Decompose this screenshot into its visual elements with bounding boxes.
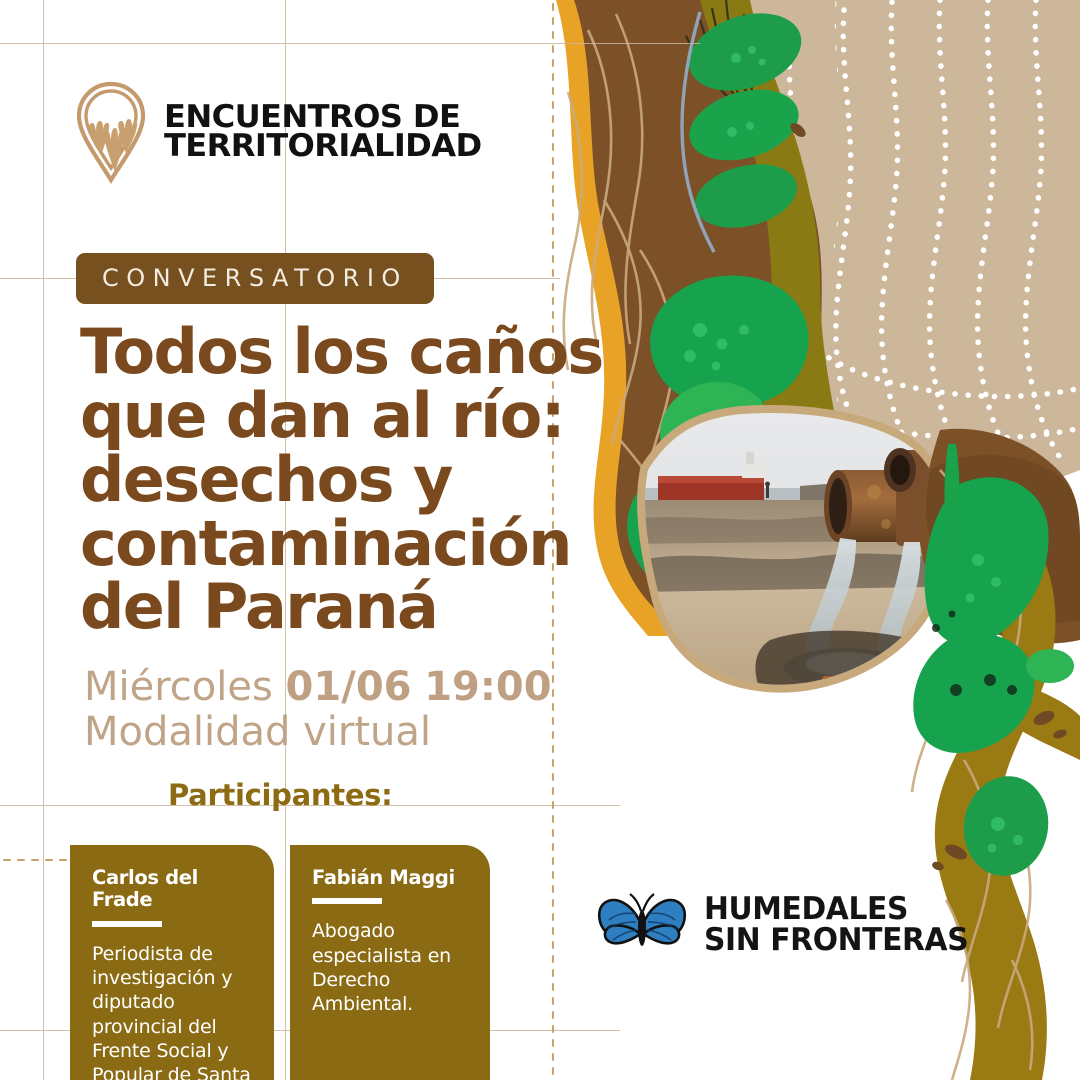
title-line-2: que dan al río:	[80, 384, 600, 448]
event-time: 19:00	[424, 664, 551, 710]
participant-name: Fabián Maggi	[312, 867, 474, 889]
participant-name: Carlos del Frade	[92, 867, 258, 912]
event-details: Miércoles 01/06 19:00 Modalidad virtual	[84, 665, 552, 755]
participant-bio: Periodista de investigación y diputado p…	[92, 942, 258, 1080]
title-line-5: del Paraná	[80, 575, 600, 639]
participant-card: Carlos del Frade Periodista de investiga…	[70, 845, 274, 1080]
page-title: Todos los caños que dan al río: desechos…	[80, 320, 600, 639]
participants-heading: Participantes:	[168, 778, 392, 812]
event-datetime: Miércoles 01/06 19:00	[84, 665, 552, 710]
participant-card: Fabián Maggi Abogado especialista en Der…	[290, 845, 490, 1080]
title-line-4: contaminación	[80, 512, 600, 576]
participant-rule	[312, 898, 382, 904]
event-day: Miércoles	[84, 664, 273, 710]
conversatorio-badge: CONVERSATORIO	[76, 253, 434, 304]
participant-bio: Abogado especialista en Derecho Ambienta…	[312, 919, 474, 1016]
event-date: 01/06	[286, 664, 412, 710]
organizer-wordmark: HUMEDALES SIN FRONTERAS	[704, 894, 979, 956]
title-line-3: desechos y	[80, 448, 600, 512]
participants-list: Carlos del Frade Periodista de investiga…	[70, 845, 490, 1080]
brand-line-2: TERRITORIALIDAD	[164, 132, 482, 161]
organizer-line-1: HUMEDALES	[704, 894, 968, 925]
organizer-logo: HUMEDALES SIN FRONTERAS	[596, 892, 979, 958]
title-line-1: Todos los caños	[80, 320, 600, 384]
poster: ENCUENTROS DE TERRITORIALIDAD CONVERSATO…	[0, 0, 1080, 1080]
blue-morpho-butterfly-icon	[596, 892, 688, 958]
map-pin-with-hands-icon	[72, 78, 150, 186]
event-modality: Modalidad virtual	[84, 710, 552, 755]
participant-rule	[92, 921, 162, 927]
brand-logo: ENCUENTROS DE TERRITORIALIDAD	[72, 78, 475, 186]
organizer-line-2: SIN FRONTERAS	[704, 925, 968, 956]
content-column: ENCUENTROS DE TERRITORIALIDAD CONVERSATO…	[0, 0, 600, 1080]
brand-wordmark: ENCUENTROS DE TERRITORIALIDAD	[164, 103, 475, 162]
